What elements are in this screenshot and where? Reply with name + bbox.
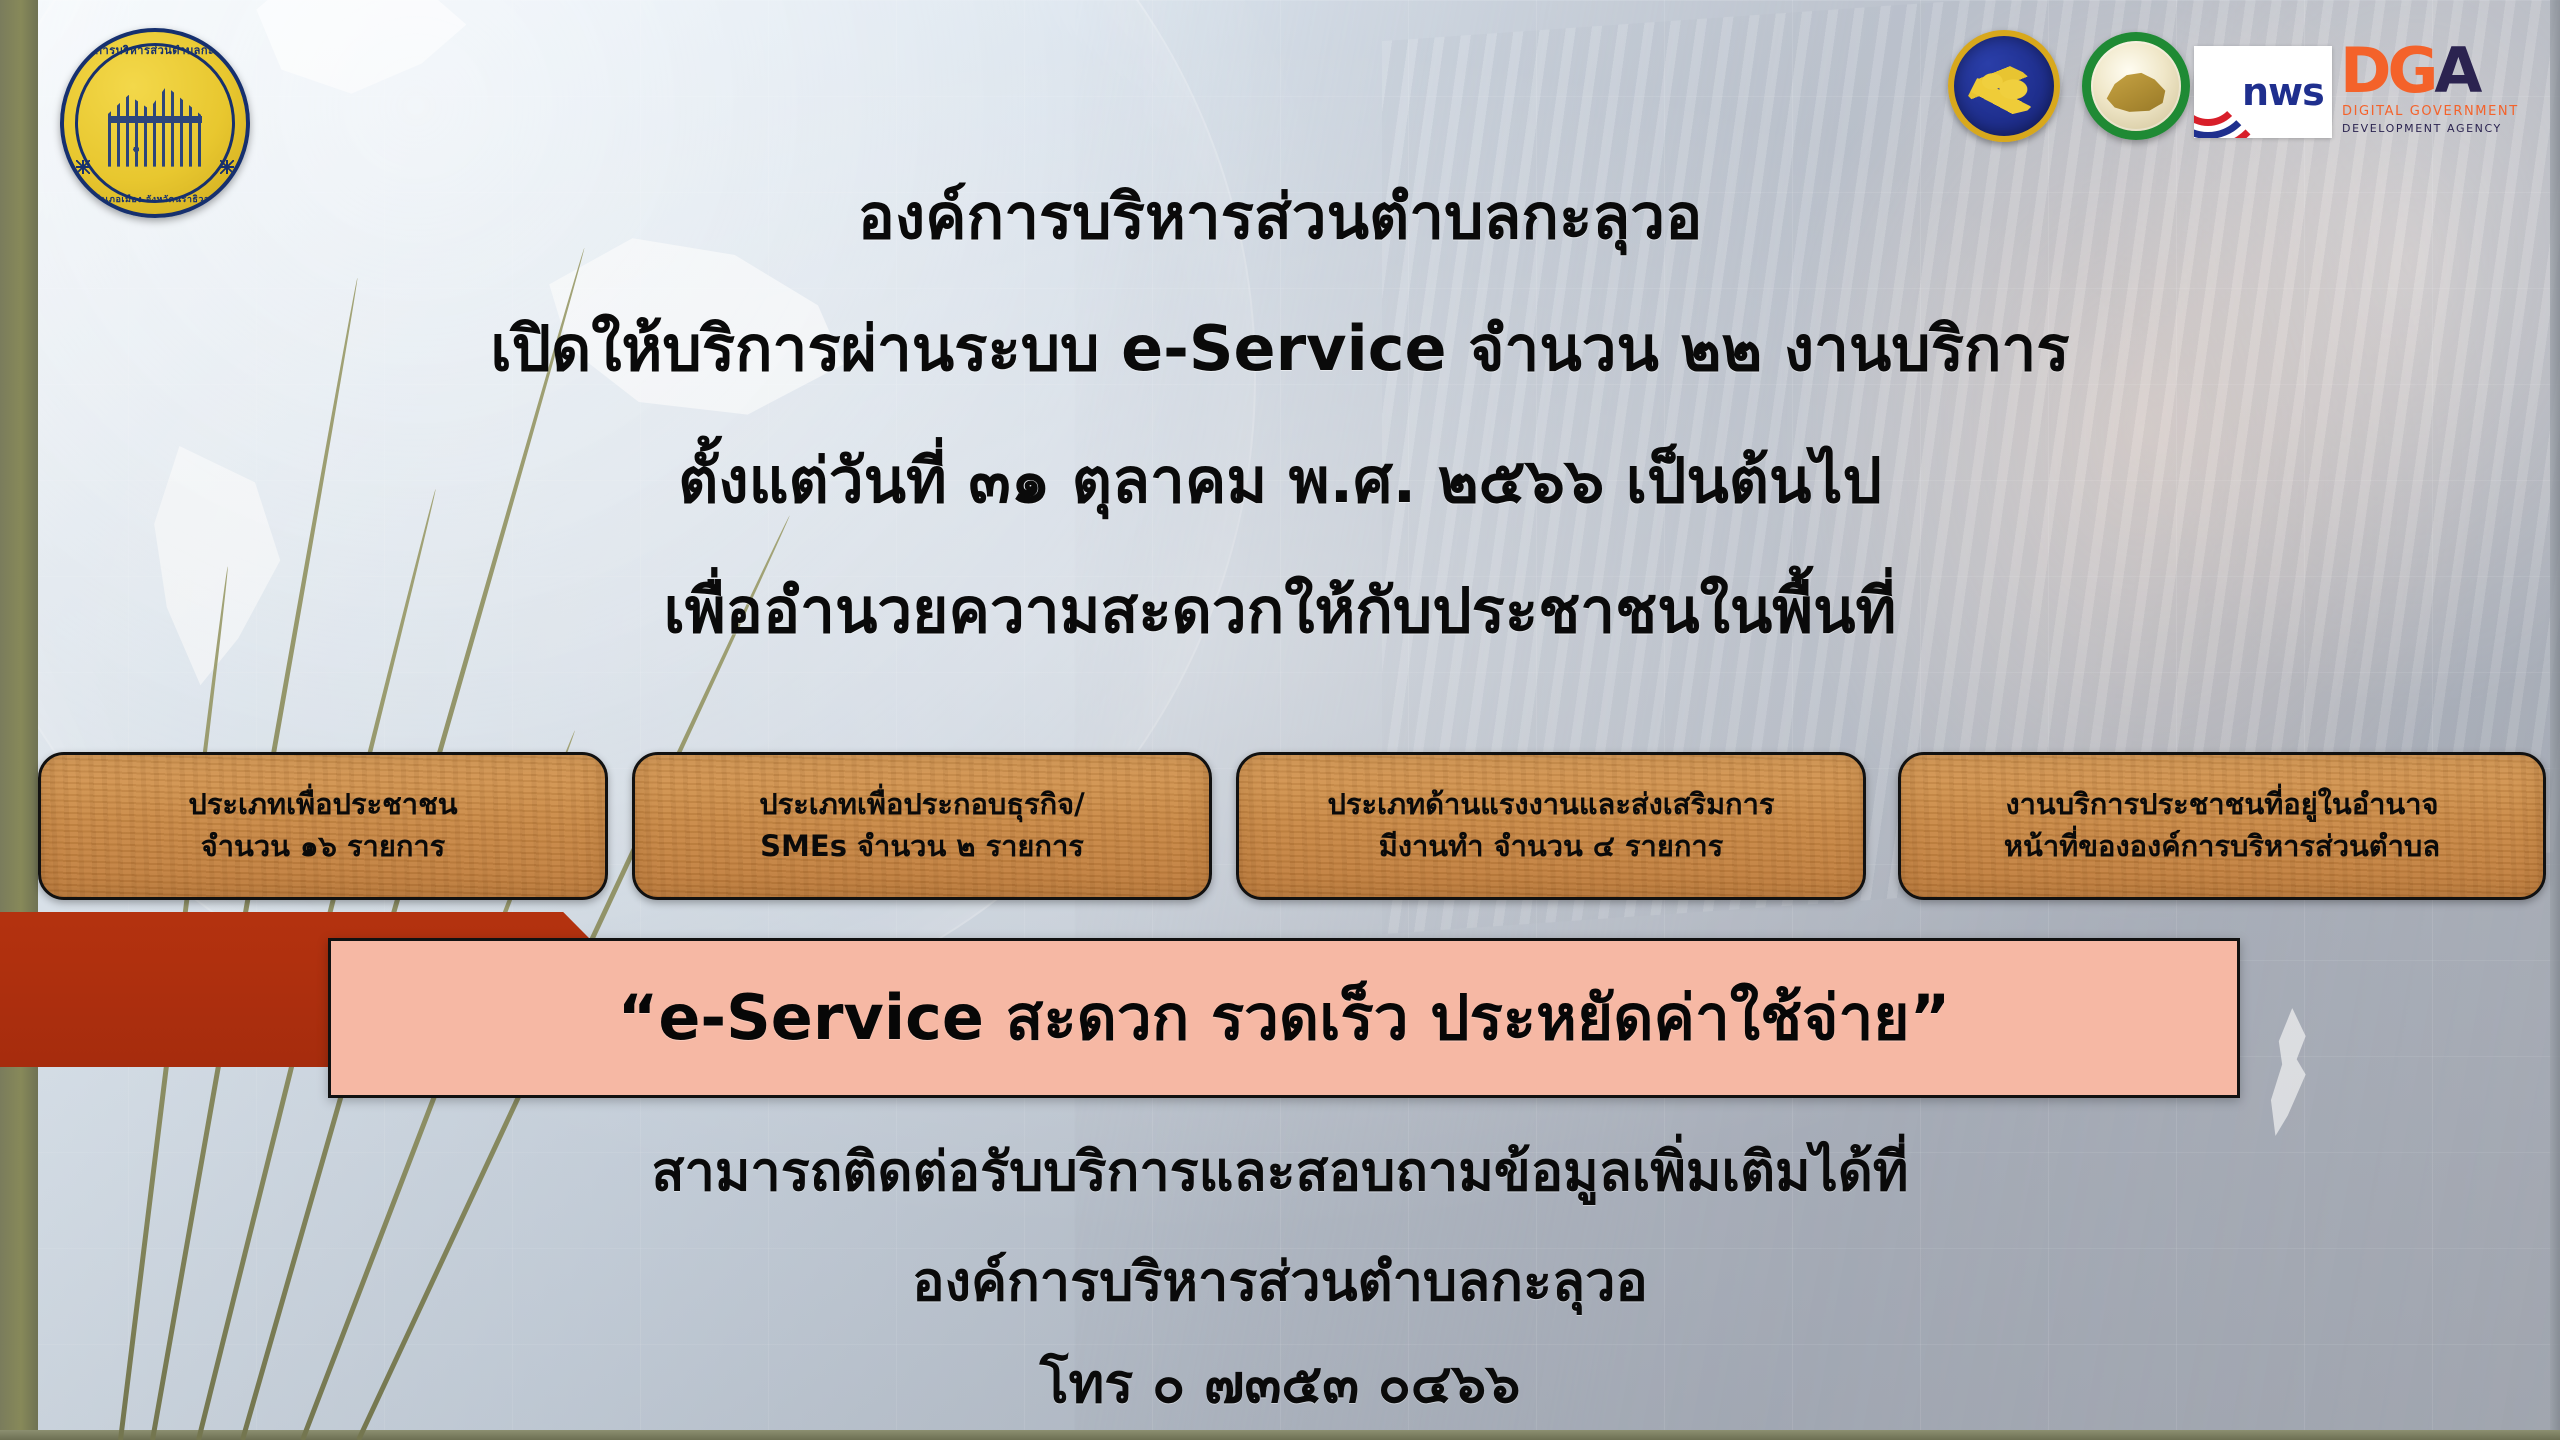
dga-letter-g: G (2387, 34, 2434, 107)
category-box-row: ประเภทเพื่อประชาชน จำนวน ๑๖ รายการ ประเภ… (0, 752, 2560, 902)
category-box-subdistrict-authority-line1: งานบริการประชาชนที่อยู่ในอำนาจ (2005, 789, 2438, 821)
nws-wordmark: nws (2242, 70, 2324, 114)
slogan-banner: “e-Service สะดวก รวดเร็ว ประหยัดค่าใช้จ่… (328, 938, 2240, 1098)
contact-phone: โทร ๐ ๗๓๕๓ ๐๔๖๖ (0, 1340, 2560, 1426)
dga-subtitle-line1: DIGITAL GOVERNMENT (2342, 104, 2519, 119)
category-box-business-smes-line2: SMEs จำนวน ๒ รายการ (760, 831, 1084, 863)
contact-line-1: สามารถติดต่อรับบริการและสอบถามข้อมูลเพิ่… (0, 1128, 2560, 1214)
category-box-subdistrict-authority: งานบริการประชาชนที่อยู่ในอำนาจ หน้าที่ขอ… (1898, 752, 2546, 900)
category-box-business-smes-line1: ประเภทเพื่อประกอบธุรกิจ/ (759, 789, 1085, 821)
headline-line-4: เพื่ออำนวยความสะดวกให้กับประชาชนในพื้นที… (0, 562, 2560, 660)
dga-letter-d: D (2340, 34, 2387, 107)
seal-top-text: องค์การบริหารส่วนตำบลกะลุวอ (64, 41, 246, 59)
bottom-olive-border (0, 1430, 2560, 1440)
seal-ministry-of-interior-icon (1948, 30, 2060, 142)
singha-lion-motif (1965, 55, 2043, 121)
category-box-citizens-line2: จำนวน ๑๖ รายการ (201, 831, 446, 863)
category-box-citizens-line1: ประเภทเพื่อประชาชน (188, 789, 457, 821)
headline-line-1: องค์การบริหารส่วนตำบลกะลุวอ (0, 168, 2560, 266)
category-box-labour-employment-line2: มีงานทำ จำนวน ๔ รายการ (1379, 831, 1724, 863)
poster-canvas: องค์การบริหารส่วนตำบลกะลุวอ อำเภอเมือง จ… (0, 0, 2560, 1440)
dga-subtitle-line2: DEVELOPMENT AGENCY (2342, 122, 2502, 135)
category-box-subdistrict-authority-line2: หน้าที่ขององค์การบริหารส่วนตำบล (2004, 831, 2440, 863)
contact-line-2: องค์การบริหารส่วนตำบลกะลุวอ (0, 1238, 2560, 1324)
dga-wordmark: DGA (2340, 38, 2538, 104)
dga-letter-a: A (2434, 34, 2478, 107)
dga-logo-icon: DGA DIGITAL GOVERNMENT DEVELOPMENT AGENC… (2340, 38, 2538, 142)
headline-line-2: เปิดให้บริการผ่านระบบ e-Service จำนวน ๒๒… (0, 300, 2560, 398)
category-box-citizens: ประเภทเพื่อประชาชน จำนวน ๑๖ รายการ (38, 752, 608, 900)
slogan-text: “e-Service สะดวก รวดเร็ว ประหยัดค่าใช้จ่… (618, 969, 1951, 1067)
headline-line-3: ตั้งแต่วันที่ ๓๑ ตุลาคม พ.ศ. ๒๕๖๖ เป็นต้… (0, 432, 2560, 530)
category-box-labour-employment: ประเภทด้านแรงงานและส่งเสริมการ มีงานทำ จ… (1236, 752, 1866, 900)
seal-department-of-local-administration-icon (2082, 32, 2190, 140)
nws-logo-icon: nws (2194, 46, 2332, 138)
category-box-labour-employment-line1: ประเภทด้านแรงงานและส่งเสริมการ (1328, 789, 1775, 821)
category-box-business-smes: ประเภทเพื่อประกอบธุรกิจ/ SMEs จำนวน ๒ รา… (632, 752, 1212, 900)
